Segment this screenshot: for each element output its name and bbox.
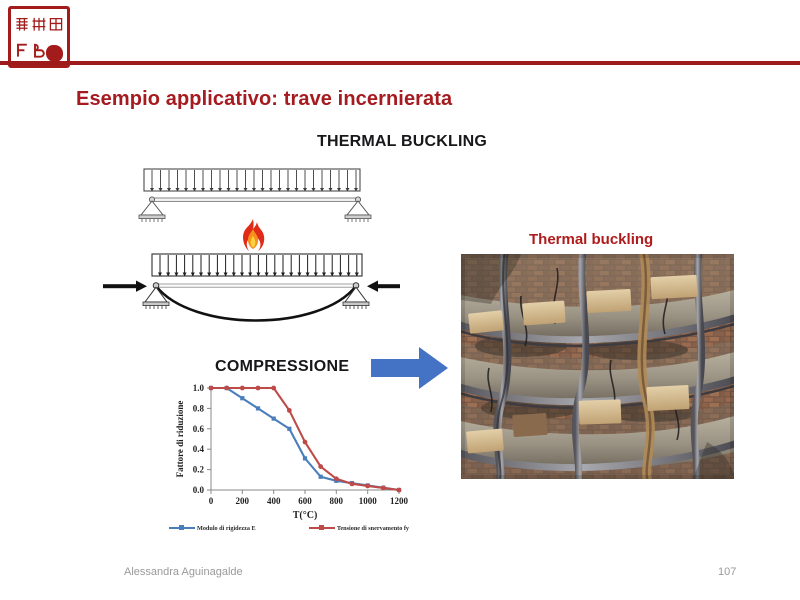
seal-glyph-3	[48, 12, 64, 37]
seal-character-icon	[48, 12, 64, 37]
chart-line-series-1	[211, 388, 399, 490]
page-title: Esempio applicativo: trave incernierata	[76, 88, 452, 111]
chart-data-point	[365, 484, 370, 489]
chart-data-point	[319, 475, 323, 479]
x-tick-label: 400	[267, 496, 281, 506]
compression-arrow-right	[367, 281, 400, 292]
footer-page-number: 107	[718, 566, 736, 578]
x-tick-label: 800	[330, 496, 344, 506]
slide-canvas: Esempio applicativo: trave incernierata …	[0, 0, 800, 600]
chart-data-point	[303, 440, 308, 445]
legend-swatch-red-icon	[309, 524, 335, 532]
x-tick-label: 0	[209, 496, 214, 506]
x-tick-label: 1000	[359, 496, 378, 506]
seal-glyph-2	[31, 12, 47, 37]
y-tick-label: 0.6	[193, 424, 205, 434]
chart-data-point	[271, 386, 276, 391]
chart-data-point	[256, 406, 260, 410]
y-tick-label: 0.8	[193, 403, 205, 413]
seal-character-icon	[31, 12, 47, 37]
chart-data-point	[209, 386, 214, 391]
seal-glyph-5	[31, 38, 47, 63]
y-tick-label: 0.4	[193, 444, 205, 454]
slide-subtitle: THERMAL BUCKLING	[317, 133, 487, 151]
chart-data-point	[303, 456, 307, 460]
x-tick-label: 600	[298, 496, 312, 506]
x-axis-label: T(°C)	[293, 510, 318, 521]
y-tick-label: 0.0	[193, 485, 205, 495]
seal-dot-icon	[46, 45, 63, 62]
photo-caption: Thermal buckling	[529, 231, 653, 248]
header-divider	[0, 61, 800, 65]
y-axis-label: Fattore di riduzione	[175, 401, 185, 478]
reduction-factor-chart: 0.0 0.2 0.4 0.6 0.8 1.0 0 200 400 600 80…	[163, 378, 411, 543]
chart-data-point	[224, 386, 229, 391]
fire-icon	[237, 218, 269, 254]
footer-author: Alessandra Aguinagalde	[124, 566, 243, 578]
x-tick-label: 1200	[390, 496, 409, 506]
chart-title: COMPRESSIONE	[215, 358, 349, 376]
legend-label: Modulo di rigidezza E	[197, 525, 256, 532]
red-seal-logo	[8, 6, 70, 68]
chart-data-point	[240, 386, 245, 391]
chart-data-point	[318, 464, 323, 469]
chart-data-point	[287, 408, 292, 413]
chart-data-point	[397, 488, 402, 493]
chart-legend: Modulo di rigidezza E Tensione di snerva…	[169, 524, 409, 532]
legend-label: Tensione di snervamento fy	[337, 525, 409, 532]
seal-glyph-1	[14, 12, 30, 37]
chart-data-point	[287, 427, 291, 431]
y-tick-label: 0.2	[193, 465, 205, 475]
x-tick-label: 200	[236, 496, 250, 506]
seal-letter-b-icon	[31, 38, 47, 63]
chart-data-point	[240, 396, 244, 400]
legend-item-stiffness: Modulo di rigidezza E	[169, 524, 256, 532]
chart-series-layer	[209, 386, 402, 493]
chart-line-series-0	[211, 388, 399, 490]
legend-swatch-blue-icon	[169, 524, 195, 532]
compression-arrow-left	[103, 281, 147, 292]
photo-illustration	[461, 254, 734, 479]
thermal-buckling-photo	[461, 254, 734, 479]
deflected-beam-curve	[156, 286, 356, 321]
seal-glyph-4	[14, 38, 30, 63]
chart-data-point	[272, 417, 276, 421]
chart-data-point	[350, 481, 355, 486]
chart-data-point	[381, 486, 386, 491]
seal-character-icon	[14, 12, 30, 37]
beam-with-distributed-load-and-fire	[130, 165, 380, 225]
buckled-beam-with-axial-compression	[100, 250, 400, 330]
chart-plot-area: 0.0 0.2 0.4 0.6 0.8 1.0 0 200 400 600 80…	[163, 378, 411, 524]
chart-data-point	[256, 386, 261, 391]
chart-data-point	[334, 476, 339, 481]
y-tick-label: 1.0	[193, 383, 205, 393]
legend-item-yield: Tensione di snervamento fy	[309, 524, 409, 532]
seal-letter-f-icon	[14, 38, 30, 63]
